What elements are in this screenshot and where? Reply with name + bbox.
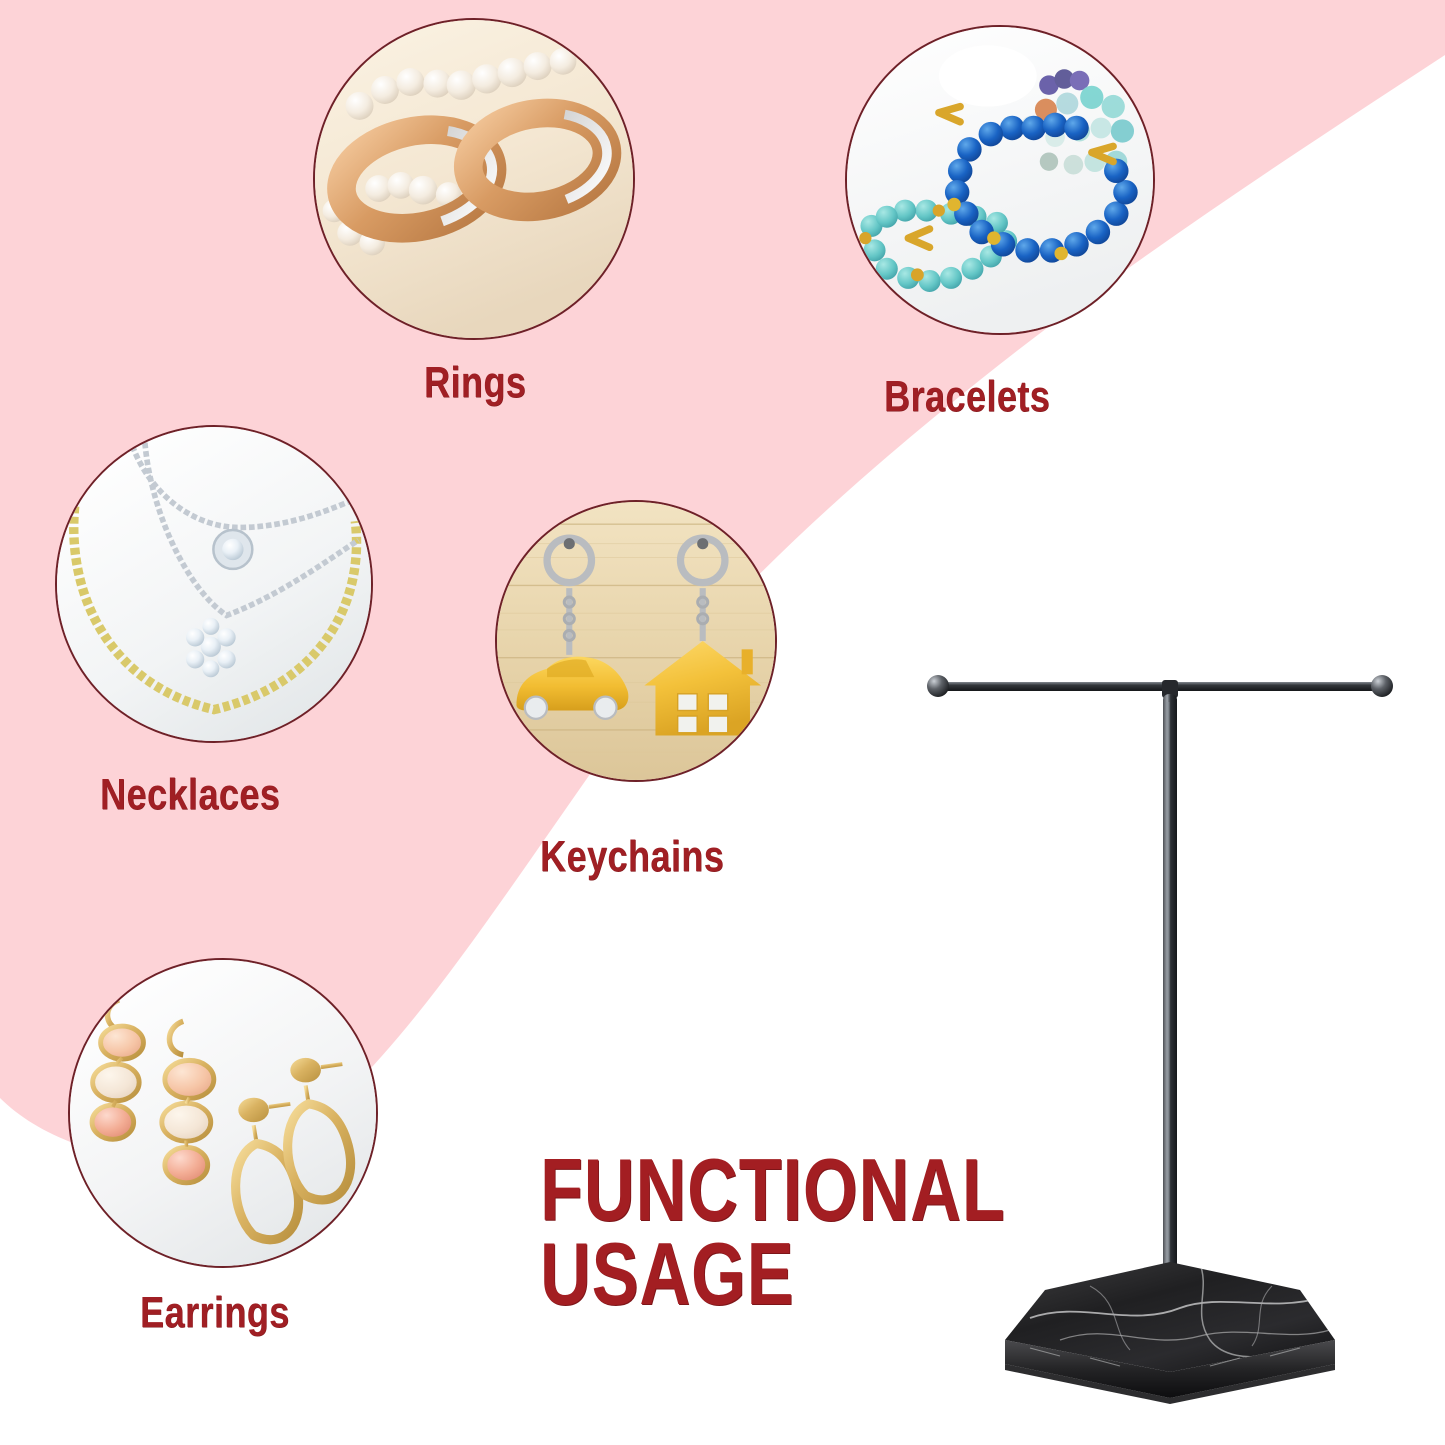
- stand-post: [1163, 694, 1177, 1304]
- halo-pendant: [213, 530, 252, 569]
- feature-label-earrings: Earrings: [140, 1288, 290, 1338]
- feature-label-rings: Rings: [424, 358, 526, 408]
- infographic-canvas: Rings: [0, 0, 1445, 1445]
- feature-photo-necklaces: [55, 425, 373, 743]
- feature-label-keychains: Keychains: [540, 832, 724, 882]
- feature-photo-earrings: [68, 958, 378, 1268]
- feature-photo-bracelets: [845, 25, 1155, 335]
- feature-label-bracelets: Bracelets: [884, 372, 1050, 422]
- stand-knob-right: [1371, 675, 1393, 697]
- product-image-t-bar-stand: [880, 650, 1440, 1430]
- feature-photo-rings: [313, 18, 635, 340]
- stand-crossbar: [942, 682, 1378, 691]
- feature-label-necklaces: Necklaces: [100, 770, 280, 820]
- feature-photo-keychains: [495, 500, 777, 782]
- stand-knob-left: [927, 675, 949, 697]
